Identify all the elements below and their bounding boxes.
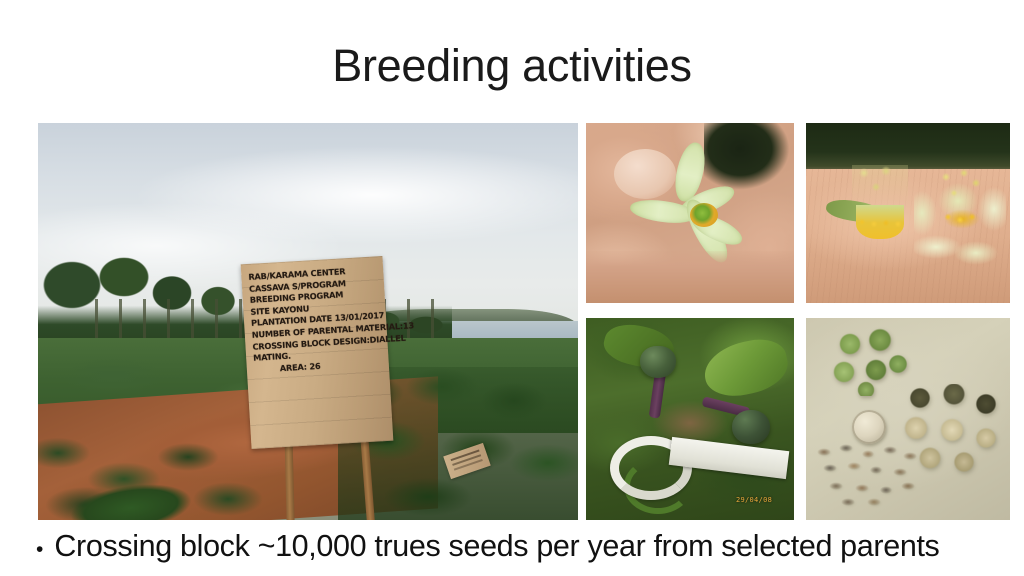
male-flower-nectar-disc <box>940 207 984 231</box>
thumbnail-layer <box>614 149 676 199</box>
photo-female-flower <box>586 123 794 303</box>
photo-fruits-on-plant: 29/04/08 <box>586 318 794 520</box>
cassava-fruit-capsule <box>732 410 770 444</box>
camera-date-stamp: 29/04/08 <box>736 496 772 504</box>
cassava-fruit-capsule <box>640 346 676 378</box>
bullet-marker: • <box>36 532 43 568</box>
bullet-list-item: • Crossing block ~10,000 trues seeds per… <box>36 528 1011 568</box>
slide-canvas: Breeding activities RAB/KARAMA CENTER CA… <box>0 0 1024 576</box>
photo-crossing-block-field: RAB/KARAMA CENTER CASSAVA S/PROGRAM BREE… <box>38 123 578 520</box>
loose-cassava-seeds <box>814 444 926 508</box>
male-flower-anthers <box>854 213 906 231</box>
photo-seeds-and-capsules <box>806 318 1010 520</box>
flower-stigma <box>690 203 718 227</box>
page-title: Breeding activities <box>0 40 1024 92</box>
finger-foreground-layer <box>586 251 794 303</box>
photo-male-flowers <box>806 123 1010 303</box>
scale-coin <box>852 410 886 444</box>
field-information-sign: RAB/KARAMA CENTER CASSAVA S/PROGRAM BREE… <box>241 256 394 449</box>
sign-text-block: RAB/KARAMA CENTER CASSAVA S/PROGRAM BREE… <box>248 264 384 376</box>
fresh-green-capsules <box>830 328 910 396</box>
bullet-text: Crossing block ~10,000 trues seeds per y… <box>54 528 939 564</box>
